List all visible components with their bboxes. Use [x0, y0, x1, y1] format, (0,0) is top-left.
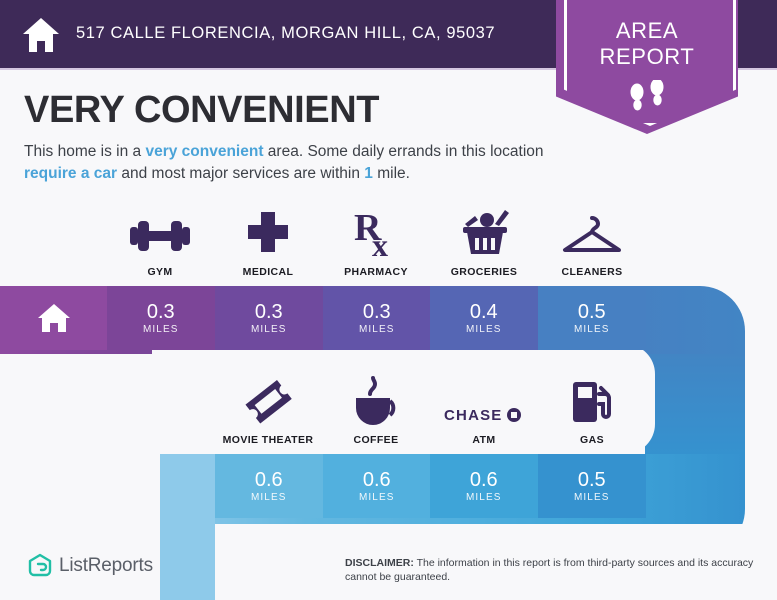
summary-highlight-3: 1 — [364, 165, 373, 182]
distance-unit: MILES — [574, 492, 610, 503]
distance-cell-pharmacy: 0.3 MILES — [323, 286, 431, 350]
medical-cross-icon — [214, 206, 322, 258]
service-label: GYM — [106, 266, 214, 278]
service-label: COFFEE — [322, 434, 430, 446]
service-column-gym: GYM — [106, 206, 214, 278]
distance-unit: MILES — [466, 492, 502, 503]
service-column-movie-theater: MOVIE THEATER — [214, 374, 322, 446]
distance-value: 0.6 — [255, 469, 283, 491]
badge-title: AREA REPORT — [556, 18, 738, 70]
distance-unit: MILES — [143, 324, 179, 335]
service-label: PHARMACY — [322, 266, 430, 278]
summary-text-4: mile. — [373, 165, 410, 182]
shopping-basket-icon — [430, 206, 538, 258]
distance-cell-atm: 0.6 MILES — [430, 454, 538, 518]
distance-cell-movie-theater: 0.6 MILES — [215, 454, 323, 518]
svg-text:x: x — [372, 227, 388, 258]
gas-pump-icon — [538, 374, 646, 426]
distance-cell-coffee: 0.6 MILES — [323, 454, 431, 518]
distance-value: 0.6 — [363, 469, 391, 491]
badge-line-2: REPORT — [556, 44, 738, 70]
distance-unit: MILES — [251, 492, 287, 503]
badge-line-1: AREA — [556, 18, 738, 44]
service-label: MEDICAL — [214, 266, 322, 278]
distance-value: 0.6 — [470, 469, 498, 491]
service-label: ATM — [430, 434, 538, 446]
area-report-page: 517 CALLE FLORENCIA, MORGAN HILL, CA, 95… — [0, 0, 777, 600]
service-label: MOVIE THEATER — [214, 434, 322, 446]
home-icon — [21, 16, 61, 54]
listreports-logo-icon — [28, 553, 52, 579]
coffee-cup-icon — [322, 374, 430, 426]
service-column-gas: GAS — [538, 374, 646, 446]
summary-text-3: and most major services are within — [117, 165, 364, 182]
service-column-coffee: COFFEE — [322, 374, 430, 446]
rx-icon: R x — [322, 206, 430, 258]
distance-unit: MILES — [574, 324, 610, 335]
summary-text-1: This home is in a — [24, 143, 145, 160]
movie-ticket-icon — [214, 374, 322, 426]
distance-value: 0.3 — [147, 301, 175, 323]
distance-bar-row-1: 0.3 MILES 0.3 MILES 0.3 MILES 0.4 MILES … — [0, 286, 645, 350]
service-column-atm: CHASE ATM — [430, 374, 538, 446]
distance-cell-cleaners: 0.5 MILES — [538, 286, 646, 350]
service-column-medical: MEDICAL — [214, 206, 322, 278]
footprints-icon — [626, 80, 670, 116]
summary-highlight-1: very convenient — [145, 143, 263, 160]
distance-cell-gas: 0.5 MILES — [538, 454, 646, 518]
disclaimer-label: DISCLAIMER: — [345, 557, 414, 569]
page-title: VERY CONVENIENT — [24, 89, 379, 132]
service-column-pharmacy: R x PHARMACY — [322, 206, 430, 278]
distance-value: 0.5 — [578, 469, 606, 491]
home-marker-cell — [0, 286, 108, 350]
distance-value: 0.4 — [470, 301, 498, 323]
service-column-groceries: GROCERIES — [430, 206, 538, 278]
distance-unit: MILES — [359, 492, 395, 503]
service-label: GAS — [538, 434, 646, 446]
home-icon — [36, 302, 72, 334]
service-column-cleaners: CLEANERS — [538, 206, 646, 278]
service-label: GROCERIES — [430, 266, 538, 278]
distance-cell-groceries: 0.4 MILES — [430, 286, 538, 350]
disclaimer: DISCLAIMER: The information in this repo… — [345, 556, 755, 584]
area-report-badge: AREA REPORT — [556, 0, 738, 134]
distance-unit: MILES — [466, 324, 502, 335]
distance-value: 0.5 — [578, 301, 606, 323]
dumbbell-icon — [106, 206, 214, 258]
listreports-logo-text: ListReports — [59, 555, 153, 577]
listreports-logo[interactable]: ListReports — [28, 553, 153, 579]
distance-cell-gym: 0.3 MILES — [107, 286, 215, 350]
distance-value: 0.3 — [363, 301, 391, 323]
service-label: CLEANERS — [538, 266, 646, 278]
summary-text: This home is in a very convenient area. … — [24, 141, 554, 185]
distance-unit: MILES — [359, 324, 395, 335]
property-address: 517 CALLE FLORENCIA, MORGAN HILL, CA, 95… — [76, 24, 495, 43]
summary-highlight-2: require a car — [24, 165, 117, 182]
distance-unit: MILES — [251, 324, 287, 335]
chase-logo-icon: CHASE — [430, 374, 538, 426]
distance-bar-row-2: 0.6 MILES 0.6 MILES 0.6 MILES 0.5 MILES — [215, 454, 645, 518]
svg-text:CHASE: CHASE — [444, 407, 503, 424]
summary-text-2: area. Some daily errands in this locatio… — [264, 143, 544, 160]
distance-cell-medical: 0.3 MILES — [215, 286, 323, 350]
distance-value: 0.3 — [255, 301, 283, 323]
clothes-hanger-icon — [538, 206, 646, 258]
